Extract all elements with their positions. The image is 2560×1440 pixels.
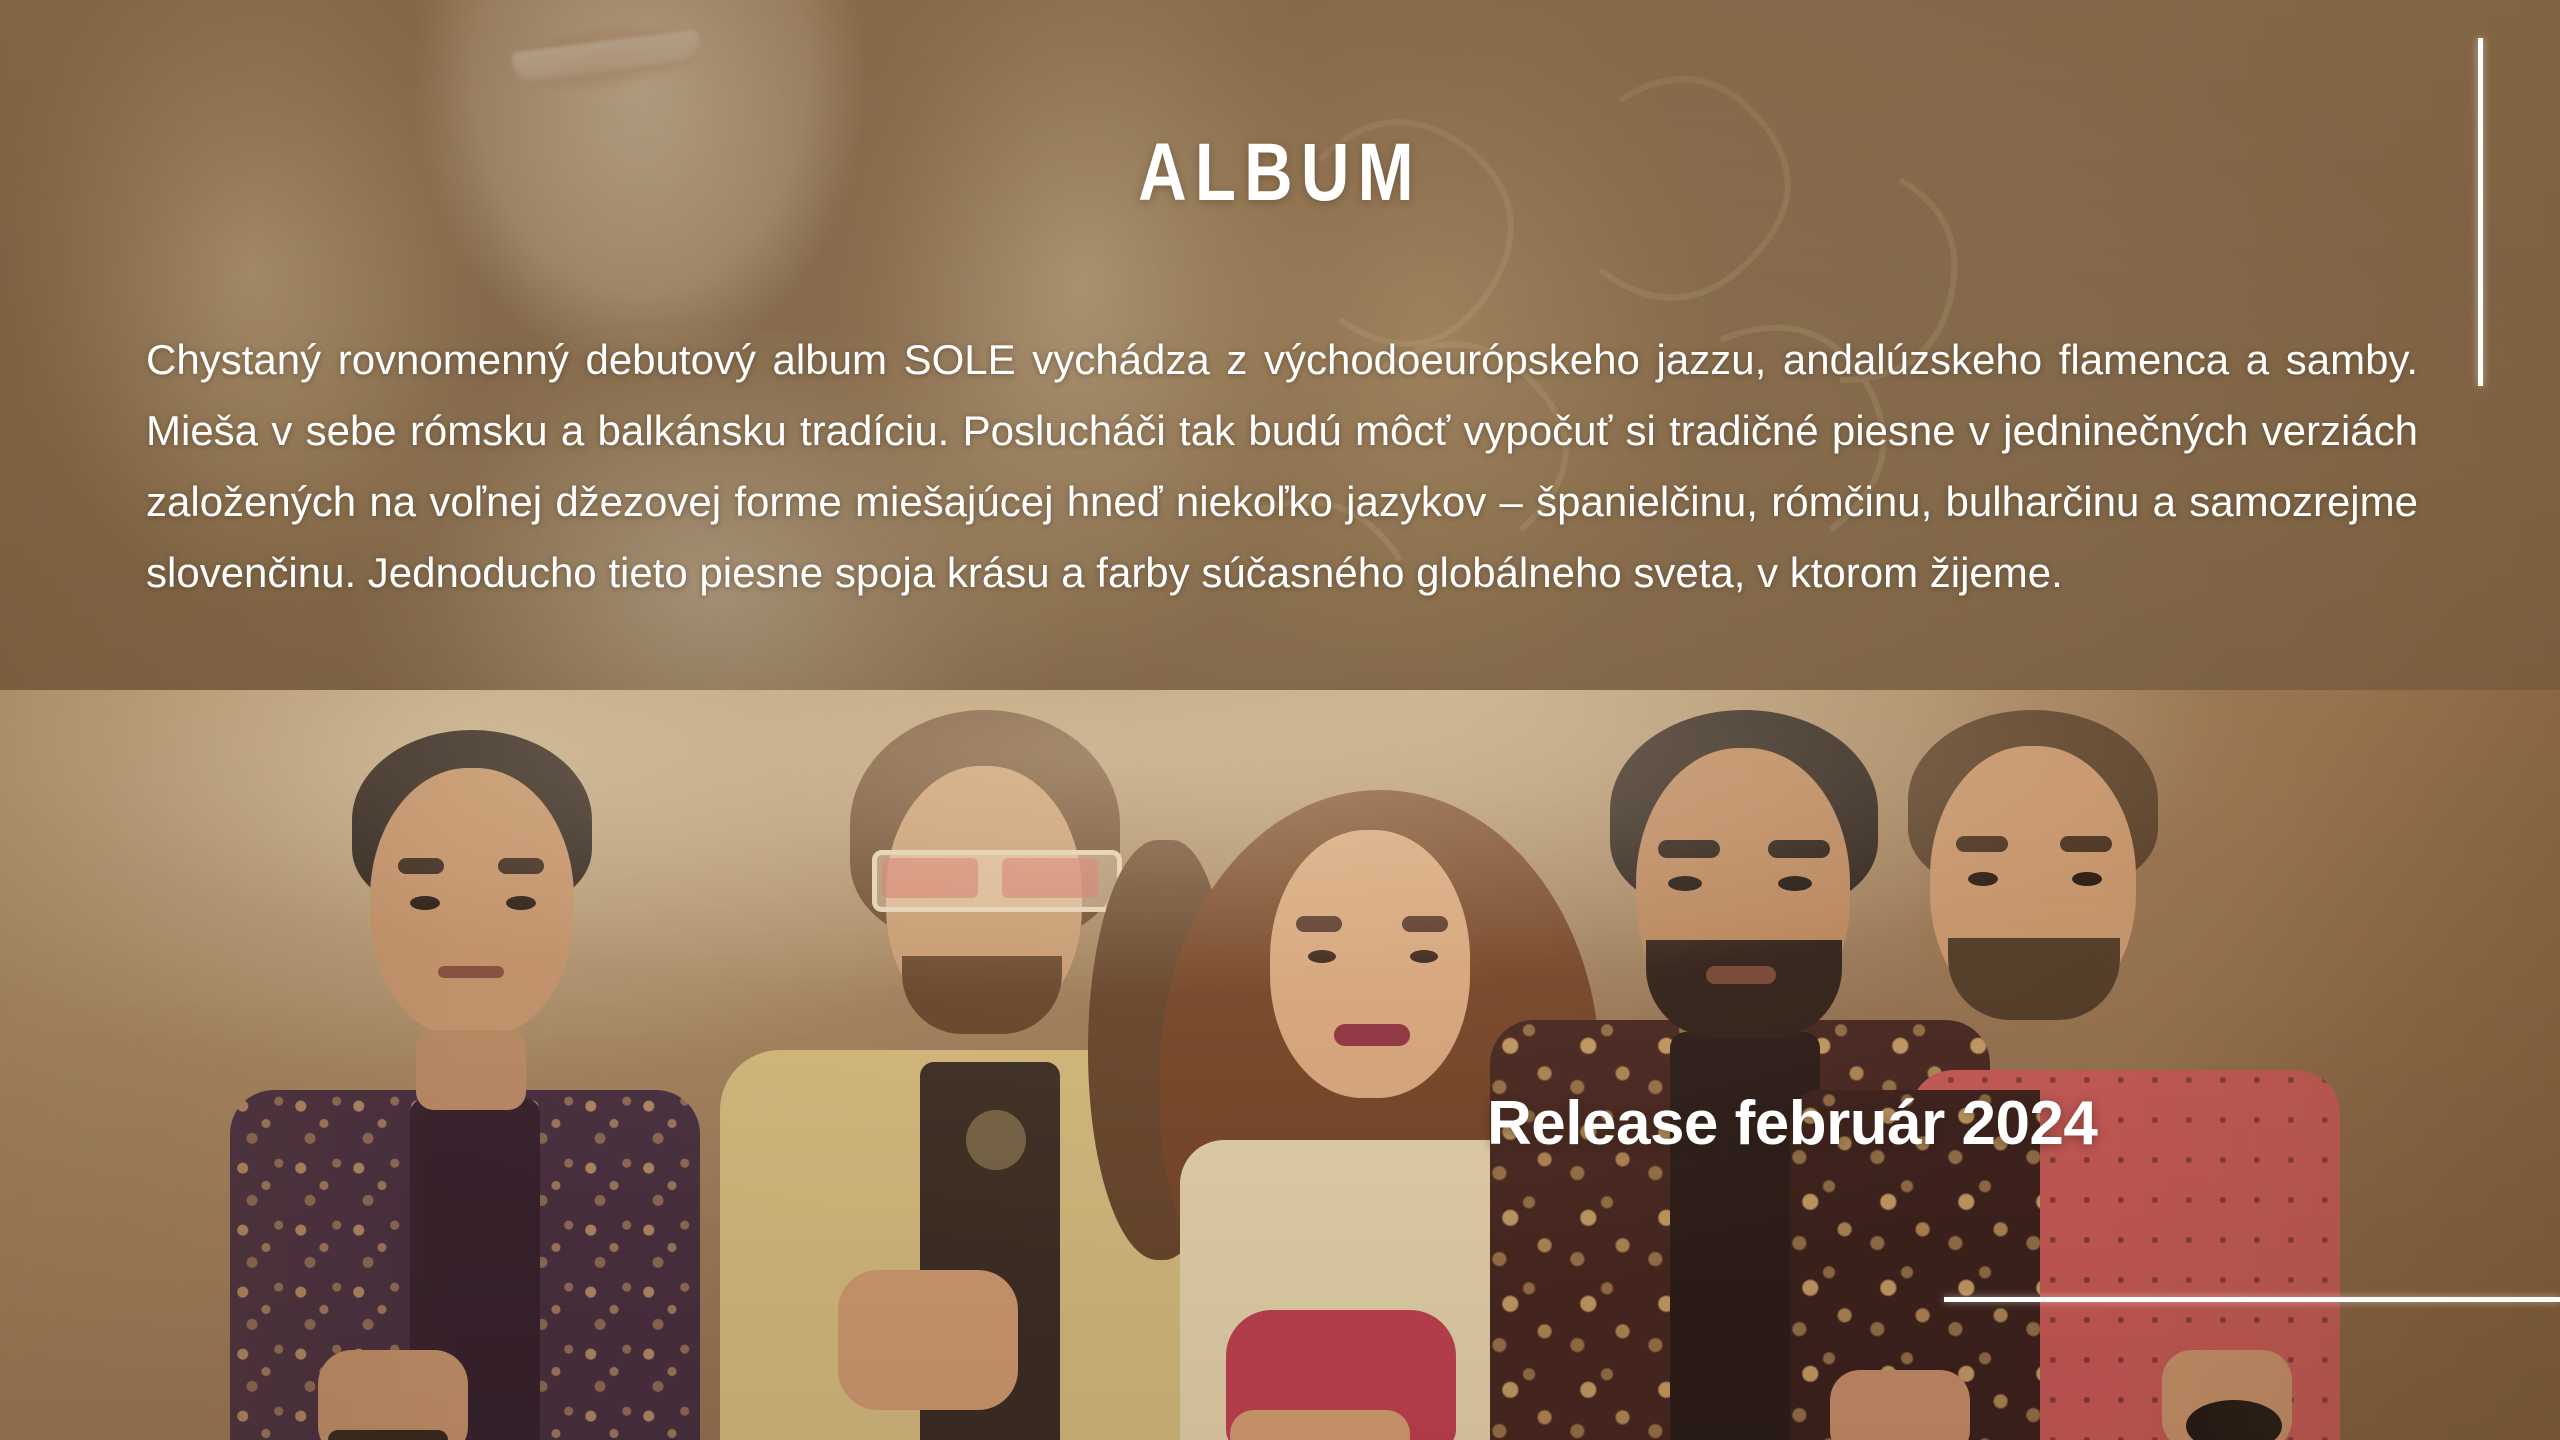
release-date-label: Release február 2024 bbox=[1487, 1093, 2097, 1155]
page-title: ALBUM bbox=[230, 132, 2329, 214]
album-description: Chystaný rovnomenný debutový album SOLE … bbox=[146, 324, 2418, 608]
horizontal-rule-decoration bbox=[1944, 1297, 2560, 1302]
vertical-rule-decoration bbox=[2478, 38, 2483, 386]
slide-canvas: ALBUM Chystaný rovnomenný debutový album… bbox=[0, 0, 2560, 1440]
